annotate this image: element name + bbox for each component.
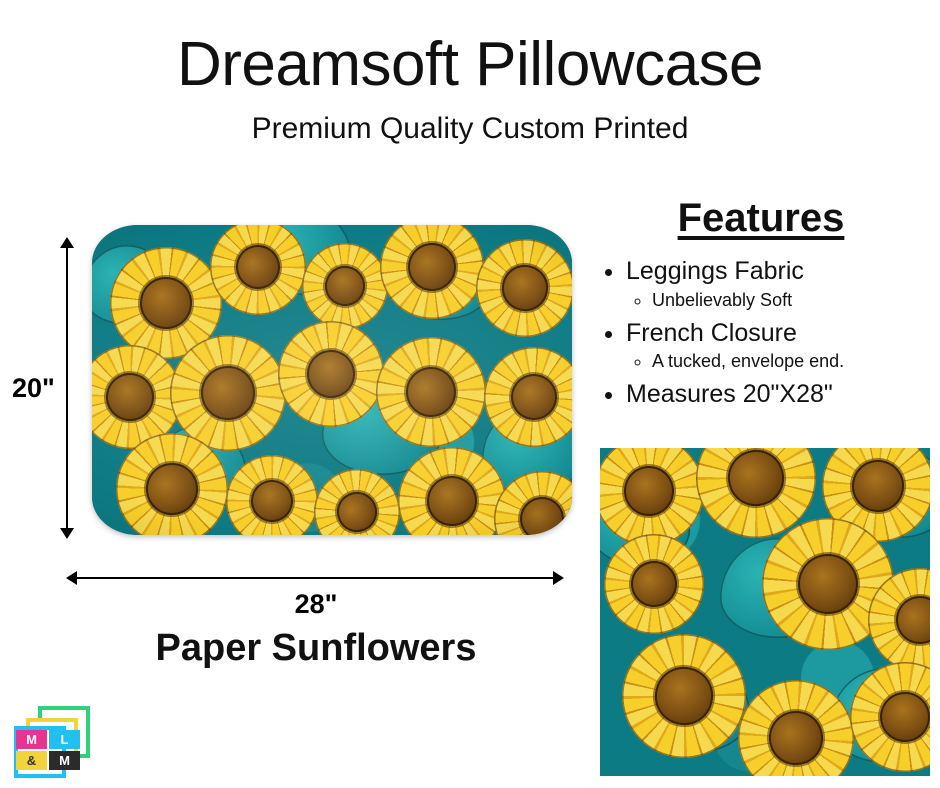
page-subtitle: Premium Quality Custom Printed (0, 112, 940, 146)
brand-logo: M L & M (14, 706, 86, 774)
pattern-name: Paper Sunflowers (0, 627, 632, 670)
logo-letters: M L & M (16, 730, 80, 770)
feature-label: Leggings Fabric (626, 257, 804, 285)
feature-label: Measures 20"X28" (626, 380, 833, 408)
height-dimension-arrow (66, 247, 68, 529)
feature-item: French Closure A tucked, envelope end. (626, 317, 926, 375)
feature-label: French Closure (626, 319, 797, 347)
feature-subitem: A tucked, envelope end. (652, 349, 926, 374)
feature-item: Leggings Fabric Unbelievably Soft (626, 255, 926, 313)
sunflower (467, 230, 572, 346)
logo-letter: & (16, 751, 47, 770)
feature-subitem: Unbelievably Soft (652, 288, 926, 313)
sunflower-pattern (92, 225, 572, 535)
pillow-shape (92, 225, 572, 535)
feature-sublist: A tucked, envelope end. (626, 349, 926, 374)
width-dimension-label: 28" (0, 589, 632, 620)
logo-letter: L (49, 730, 80, 749)
pillow-product-image (92, 225, 572, 535)
product-image-area: 20" (0, 195, 590, 695)
logo-letter: M (16, 730, 47, 749)
fabric-swatch (600, 448, 930, 776)
features-panel: Features Leggings Fabric Unbelievably So… (596, 196, 926, 413)
sunflower (609, 621, 759, 771)
feature-item: Measures 20"X28" (626, 378, 926, 411)
features-list: Leggings Fabric Unbelievably Soft French… (596, 255, 926, 411)
logo-letter: M (49, 751, 80, 770)
height-dimension-label: 20" (12, 373, 55, 404)
feature-sublist: Unbelievably Soft (626, 288, 926, 313)
features-heading: Features (596, 196, 926, 241)
sunflower-pattern-swatch (600, 448, 930, 776)
page-header: Dreamsoft Pillowcase Premium Quality Cus… (0, 34, 940, 146)
page-title: Dreamsoft Pillowcase (0, 34, 940, 96)
width-dimension-arrow (76, 577, 554, 579)
